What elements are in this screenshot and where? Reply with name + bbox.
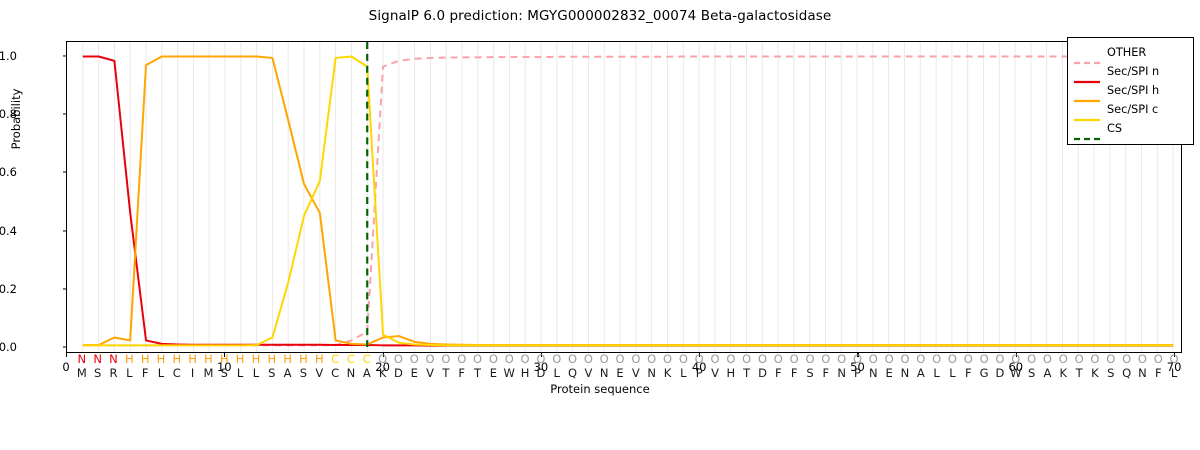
annotation-cell: H	[172, 352, 181, 366]
x-axis-label: Protein sequence	[0, 382, 1200, 396]
sequence-cell: C	[331, 366, 339, 380]
annotation-cell: O	[726, 352, 735, 366]
sequence-cell: T	[743, 366, 750, 380]
sequence-cell: N	[647, 366, 656, 380]
legend-label: OTHER	[1107, 46, 1146, 59]
annotation-cell: O	[1170, 352, 1179, 366]
annotation-cell: O	[679, 352, 688, 366]
annotation-row: NNNHHHHHHHHHHHHHCCCOOOOOOOOOOOOOOOOOOOOO…	[0, 352, 1200, 366]
sequence-cell: E	[411, 366, 418, 380]
legend-item: OTHER	[1074, 43, 1187, 62]
sequence-cell: N	[901, 366, 910, 380]
sequence-cell: S	[221, 366, 228, 380]
annotation-cell: O	[774, 352, 783, 366]
sequence-cell: D	[996, 366, 1005, 380]
annotation-cell: H	[157, 352, 166, 366]
annotation-cell: O	[473, 352, 482, 366]
annotation-cell: H	[125, 352, 134, 366]
annotation-cell: H	[236, 352, 245, 366]
annotation-cell: O	[378, 352, 387, 366]
annotation-cell: H	[252, 352, 261, 366]
sequence-cell: K	[379, 366, 387, 380]
annotation-cell: O	[663, 352, 672, 366]
y-tick-label: 0.2	[0, 282, 17, 296]
annotation-cell: O	[964, 352, 973, 366]
sequence-cell: F	[965, 366, 972, 380]
annotation-cell: O	[631, 352, 640, 366]
annotation-cell: N	[78, 352, 87, 366]
annotation-cell: O	[1075, 352, 1084, 366]
annotation-cell: H	[283, 352, 292, 366]
sequence-cell: T	[1076, 366, 1083, 380]
legend-label: CS	[1107, 122, 1122, 135]
y-tick-label: 0.4	[0, 224, 17, 238]
legend-label: Sec/SPI h	[1107, 84, 1159, 97]
sequence-cell: F	[791, 366, 798, 380]
sequence-cell: S	[806, 366, 813, 380]
sequence-cell: N	[837, 366, 846, 380]
annotation-cell: O	[1138, 352, 1147, 366]
annotation-cell: O	[457, 352, 466, 366]
sequence-cell: L	[680, 366, 686, 380]
annotation-cell: N	[109, 352, 118, 366]
annotation-cell: H	[204, 352, 213, 366]
annotation-cell: O	[410, 352, 419, 366]
signalp-prediction-figure: SignalP 6.0 prediction: MGYG000002832_00…	[0, 0, 1200, 450]
legend: OTHERSec/SPI nSec/SPI hSec/SPI cCS	[1067, 37, 1194, 145]
annotation-cell: O	[521, 352, 530, 366]
sequence-cell: P	[854, 366, 861, 380]
sequence-cell: D	[394, 366, 403, 380]
annotation-cell: O	[441, 352, 450, 366]
annotation-cell: N	[93, 352, 102, 366]
annotation-cell: O	[900, 352, 909, 366]
annotation-cell: C	[347, 352, 355, 366]
sequence-cell: L	[554, 366, 560, 380]
sequence-cell: W	[504, 366, 515, 380]
annotation-cell: C	[363, 352, 371, 366]
annotation-cell: O	[616, 352, 625, 366]
sequence-cell: I	[191, 366, 194, 380]
sequence-cell: A	[363, 366, 371, 380]
annotation-cell: O	[695, 352, 704, 366]
sequence-cell: L	[949, 366, 955, 380]
annotation-cell: O	[552, 352, 561, 366]
sequence-cell: H	[521, 366, 530, 380]
sequence-cell: A	[917, 366, 925, 380]
sequence-cell: H	[727, 366, 736, 380]
annotation-cell: O	[758, 352, 767, 366]
annotation-cell: O	[948, 352, 957, 366]
sequence-cell: E	[616, 366, 623, 380]
annotation-cell: C	[331, 352, 339, 366]
chart-title: SignalP 6.0 prediction: MGYG000002832_00…	[0, 8, 1200, 24]
annotation-cell: O	[932, 352, 941, 366]
annotation-cell: H	[267, 352, 276, 366]
sequence-cell: D	[758, 366, 767, 380]
annotation-cell: H	[188, 352, 197, 366]
sequence-cell: L	[1171, 366, 1177, 380]
annotation-cell: O	[710, 352, 719, 366]
sequence-cell: E	[490, 366, 497, 380]
annotation-cell: O	[1090, 352, 1099, 366]
sequence-cell: T	[442, 366, 449, 380]
annotation-cell: O	[1011, 352, 1020, 366]
sequence-cell: L	[237, 366, 243, 380]
sequence-cell: V	[315, 366, 323, 380]
annotation-cell: H	[141, 352, 150, 366]
sequence-cell: Q	[1122, 366, 1131, 380]
annotation-cell: O	[489, 352, 498, 366]
sequence-cell: T	[474, 366, 481, 380]
sequence-cell: S	[300, 366, 307, 380]
sequence-cell: F	[458, 366, 465, 380]
annotation-cell: H	[220, 352, 229, 366]
sequence-cell: M	[203, 366, 213, 380]
sequence-cell: L	[126, 366, 132, 380]
sequence-row: MSRLFLCIMSLLSASVCNAKDEVTFTEWHDLQVNEVNKLP…	[0, 366, 1200, 380]
sequence-cell: S	[1107, 366, 1114, 380]
sequence-cell: Q	[568, 366, 577, 380]
annotation-cell: O	[837, 352, 846, 366]
y-tick-label: 0.8	[0, 107, 17, 121]
sequence-cell: G	[980, 366, 989, 380]
sequence-cell: N	[347, 366, 356, 380]
sequence-cell: S	[1028, 366, 1035, 380]
annotation-cell: O	[505, 352, 514, 366]
annotation-cell: O	[1122, 352, 1131, 366]
sequence-cell: K	[1091, 366, 1099, 380]
annotation-cell: O	[1106, 352, 1115, 366]
sequence-cell: F	[142, 366, 149, 380]
sequence-cell: S	[94, 366, 101, 380]
sequence-cell: N	[869, 366, 878, 380]
annotation-cell: H	[315, 352, 324, 366]
sequence-cell: E	[886, 366, 893, 380]
sequence-cell: F	[775, 366, 782, 380]
annotation-cell: O	[1059, 352, 1068, 366]
annotation-cell: O	[647, 352, 656, 366]
sequence-cell: V	[426, 366, 434, 380]
sequence-cell: N	[1138, 366, 1147, 380]
annotation-cell: O	[1154, 352, 1163, 366]
sequence-cell: K	[1059, 366, 1067, 380]
plot-area	[66, 41, 1182, 353]
annotation-cell: O	[426, 352, 435, 366]
annotation-cell: O	[1027, 352, 1036, 366]
annotation-cell: H	[299, 352, 308, 366]
annotation-cell: O	[885, 352, 894, 366]
annotation-cell: O	[536, 352, 545, 366]
y-tick-label: 0.6	[0, 165, 17, 179]
sequence-cell: N	[600, 366, 609, 380]
annotation-cell: O	[805, 352, 814, 366]
sequence-cell: L	[253, 366, 259, 380]
sequence-cell: R	[109, 366, 117, 380]
annotation-cell: O	[394, 352, 403, 366]
sequence-cell: A	[1044, 366, 1052, 380]
annotation-cell: O	[916, 352, 925, 366]
annotation-cell: O	[853, 352, 862, 366]
sequence-cell: F	[823, 366, 830, 380]
sequence-cell: V	[711, 366, 719, 380]
sequence-cell: C	[173, 366, 181, 380]
sequence-cell: W	[1010, 366, 1021, 380]
sequence-cell: V	[632, 366, 640, 380]
annotation-cell: O	[568, 352, 577, 366]
legend-label: Sec/SPI c	[1107, 103, 1158, 116]
annotation-cell: O	[995, 352, 1004, 366]
sequence-cell: S	[268, 366, 275, 380]
annotation-cell: O	[600, 352, 609, 366]
annotation-cell: O	[821, 352, 830, 366]
annotation-cell: O	[742, 352, 751, 366]
y-tick-label: 1.0	[0, 49, 17, 63]
sequence-cell: D	[536, 366, 545, 380]
sequence-cell: K	[664, 366, 672, 380]
sequence-cell: L	[933, 366, 939, 380]
sequence-cell: M	[77, 366, 87, 380]
sequence-cell: A	[284, 366, 292, 380]
sequence-cell: V	[584, 366, 592, 380]
annotation-cell: O	[980, 352, 989, 366]
annotation-cell: O	[790, 352, 799, 366]
legend-label: Sec/SPI n	[1107, 65, 1159, 78]
sequence-cell: F	[1155, 366, 1162, 380]
annotation-cell: O	[869, 352, 878, 366]
data-lines	[67, 42, 1181, 352]
sequence-cell: L	[158, 366, 164, 380]
sequence-cell: P	[696, 366, 703, 380]
annotation-cell: O	[584, 352, 593, 366]
annotation-cell: O	[1043, 352, 1052, 366]
